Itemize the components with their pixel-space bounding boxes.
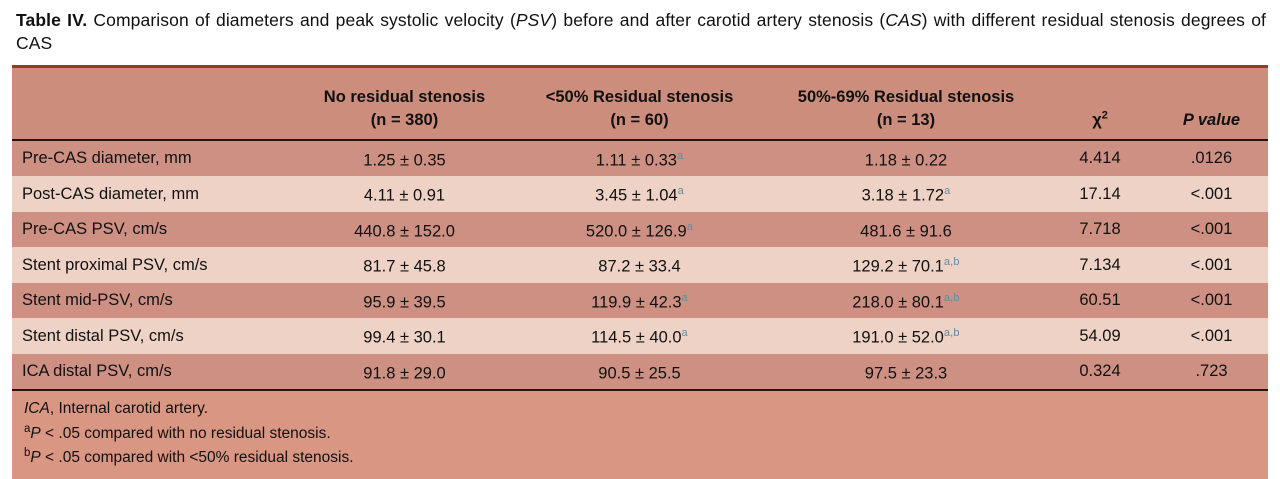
footnote-marker: a <box>678 185 684 197</box>
column-header-lt50-n: (n = 60) <box>512 109 767 132</box>
footnote-abbrev-text: , Internal carotid artery. <box>50 400 208 417</box>
cell-lt50: 90.5 ± 25.5 <box>512 354 767 391</box>
table-row: Stent proximal PSV, cm/s 81.7 ± 45.8 87.… <box>12 247 1268 283</box>
cell-value: 1.11 ± 0.33 <box>596 151 677 169</box>
cell-lt50: 119.9 ± 42.3a <box>512 283 767 319</box>
cell-value: 95.9 ± 39.5 <box>363 293 445 311</box>
row-label: Stent mid-PSV, cm/s <box>12 283 297 319</box>
cell-50-69: 1.18 ± 0.22 <box>767 140 1045 177</box>
row-label: Stent distal PSV, cm/s <box>12 318 297 354</box>
caption-abbrev-cas: CAS <box>885 10 921 30</box>
cell-value: 1.18 ± 0.22 <box>865 151 947 169</box>
caption-text-2: ) before and after carotid artery stenos… <box>551 10 885 30</box>
column-header-p-value: P value <box>1155 68 1268 140</box>
column-header-50-69-n: (n = 13) <box>767 109 1045 132</box>
table-body: Pre-CAS diameter, mm 1.25 ± 0.35 1.11 ± … <box>12 140 1268 391</box>
table-footnotes: ICA, Internal carotid artery. aP < .05 c… <box>12 391 1268 479</box>
cell-p-value: <.001 <box>1155 212 1268 248</box>
cell-value: 91.8 ± 29.0 <box>363 364 445 382</box>
cell-50-69: 3.18 ± 1.72a <box>767 176 1045 212</box>
cell-value: 1.25 ± 0.35 <box>363 151 445 169</box>
column-header-50-69: 50%-69% Residual stenosis (n = 13) <box>767 68 1045 140</box>
caption-abbrev-psv: PSV <box>516 10 551 30</box>
cell-value: 440.8 ± 152.0 <box>354 222 455 240</box>
footnote-b: bP < .05 compared with <50% residual ste… <box>24 445 1268 470</box>
table-caption: Table IV. Comparison of diameters and pe… <box>0 0 1280 56</box>
cell-value: 97.5 ± 23.3 <box>865 364 947 382</box>
cell-no-residual: 95.9 ± 39.5 <box>297 283 512 319</box>
cell-lt50: 3.45 ± 1.04a <box>512 176 767 212</box>
cell-50-69: 481.6 ± 91.6 <box>767 212 1045 248</box>
cell-value: 87.2 ± 33.4 <box>598 258 680 276</box>
footnote-marker: a,b <box>944 327 960 339</box>
footnote-a: aP < .05 compared with no residual steno… <box>24 421 1268 446</box>
cell-chi-square: 7.134 <box>1045 247 1155 283</box>
footnote-abbrev-ica: ICA <box>24 400 50 417</box>
cell-chi-square: 0.324 <box>1045 354 1155 391</box>
cell-no-residual: 91.8 ± 29.0 <box>297 354 512 391</box>
cell-p-value: .723 <box>1155 354 1268 391</box>
cell-value: 90.5 ± 25.5 <box>598 364 680 382</box>
footnote-marker: a,b <box>944 256 960 268</box>
cell-p-value: <.001 <box>1155 247 1268 283</box>
cell-value: 3.18 ± 1.72 <box>862 187 944 205</box>
footnote-a-text: < .05 compared with no residual stenosis… <box>41 425 331 442</box>
cell-value: 3.45 ± 1.04 <box>595 187 677 205</box>
footnote-abbreviations: ICA, Internal carotid artery. <box>24 398 1268 420</box>
footnote-a-p: P <box>30 425 40 442</box>
cell-chi-square: 7.718 <box>1045 212 1155 248</box>
cell-50-69: 218.0 ± 80.1a,b <box>767 283 1045 319</box>
caption-text-1: Comparison of diameters and peak systoli… <box>87 10 516 30</box>
cell-50-69: 97.5 ± 23.3 <box>767 354 1045 391</box>
footnote-marker: a <box>687 221 693 233</box>
cell-p-value: <.001 <box>1155 318 1268 354</box>
cell-50-69: 129.2 ± 70.1a,b <box>767 247 1045 283</box>
cell-value: 191.0 ± 52.0 <box>852 329 944 347</box>
cell-value: 81.7 ± 45.8 <box>363 258 445 276</box>
table-figure: Table IV. Comparison of diameters and pe… <box>0 0 1280 427</box>
column-header-50-69-name: 50%-69% Residual stenosis <box>767 86 1045 109</box>
cell-value: 520.0 ± 126.9 <box>586 222 687 240</box>
footnote-marker: a <box>944 185 950 197</box>
cell-50-69: 191.0 ± 52.0a,b <box>767 318 1045 354</box>
cell-value: 481.6 ± 91.6 <box>860 222 952 240</box>
cell-p-value: <.001 <box>1155 283 1268 319</box>
table-row: Post-CAS diameter, mm 4.11 ± 0.91 3.45 ±… <box>12 176 1268 212</box>
cell-no-residual: 1.25 ± 0.35 <box>297 140 512 177</box>
column-header-lt50: <50% Residual stenosis (n = 60) <box>512 68 767 140</box>
table-row: Pre-CAS diameter, mm 1.25 ± 0.35 1.11 ± … <box>12 140 1268 177</box>
data-table: No residual stenosis (n = 380) <50% Resi… <box>12 68 1268 392</box>
cell-p-value: <.001 <box>1155 176 1268 212</box>
cell-value: 99.4 ± 30.1 <box>363 329 445 347</box>
cell-lt50: 114.5 ± 40.0a <box>512 318 767 354</box>
table-header: No residual stenosis (n = 380) <50% Resi… <box>12 68 1268 140</box>
row-label: Stent proximal PSV, cm/s <box>12 247 297 283</box>
table-row: Stent distal PSV, cm/s 99.4 ± 30.1 114.5… <box>12 318 1268 354</box>
footnote-marker: a <box>682 292 688 304</box>
cell-no-residual: 440.8 ± 152.0 <box>297 212 512 248</box>
header-row: No residual stenosis (n = 380) <50% Resi… <box>12 68 1268 140</box>
cell-value: 4.11 ± 0.91 <box>364 187 445 205</box>
cell-chi-square: 60.51 <box>1045 283 1155 319</box>
cell-lt50: 520.0 ± 126.9a <box>512 212 767 248</box>
column-header-no-residual-name: No residual stenosis <box>297 86 512 109</box>
data-table-container: No residual stenosis (n = 380) <50% Resi… <box>12 65 1268 479</box>
cell-p-value: .0126 <box>1155 140 1268 177</box>
p-value-label: P value <box>1183 111 1240 129</box>
row-label: Post-CAS diameter, mm <box>12 176 297 212</box>
cell-no-residual: 99.4 ± 30.1 <box>297 318 512 354</box>
cell-chi-square: 54.09 <box>1045 318 1155 354</box>
cell-no-residual: 81.7 ± 45.8 <box>297 247 512 283</box>
column-header-no-residual: No residual stenosis (n = 380) <box>297 68 512 140</box>
column-header-lt50-name: <50% Residual stenosis <box>512 86 767 109</box>
table-number: Table IV. <box>16 10 87 30</box>
column-header-measure <box>12 68 297 140</box>
row-label: Pre-CAS diameter, mm <box>12 140 297 177</box>
table-row: Stent mid-PSV, cm/s 95.9 ± 39.5 119.9 ± … <box>12 283 1268 319</box>
footnote-marker: a <box>677 150 683 162</box>
cell-lt50: 87.2 ± 33.4 <box>512 247 767 283</box>
table-row: ICA distal PSV, cm/s 91.8 ± 29.0 90.5 ± … <box>12 354 1268 391</box>
row-label: Pre-CAS PSV, cm/s <box>12 212 297 248</box>
cell-no-residual: 4.11 ± 0.91 <box>297 176 512 212</box>
cell-value: 114.5 ± 40.0 <box>591 329 681 347</box>
footnote-b-p: P <box>30 450 40 467</box>
row-label: ICA distal PSV, cm/s <box>12 354 297 391</box>
cell-value: 218.0 ± 80.1 <box>852 293 944 311</box>
column-header-chi-square: χ2 <box>1045 68 1155 140</box>
chi-exponent: 2 <box>1102 110 1108 122</box>
cell-value: 129.2 ± 70.1 <box>852 258 944 276</box>
cell-chi-square: 4.414 <box>1045 140 1155 177</box>
footnote-marker: a <box>682 327 688 339</box>
cell-lt50: 1.11 ± 0.33a <box>512 140 767 177</box>
footnote-marker: a,b <box>944 292 960 304</box>
footnote-b-text: < .05 compared with <50% residual stenos… <box>41 450 354 467</box>
column-header-no-residual-n: (n = 380) <box>297 109 512 132</box>
cell-value: 119.9 ± 42.3 <box>591 293 681 311</box>
chi-symbol: χ <box>1092 111 1102 129</box>
cell-chi-square: 17.14 <box>1045 176 1155 212</box>
table-row: Pre-CAS PSV, cm/s 440.8 ± 152.0 520.0 ± … <box>12 212 1268 248</box>
